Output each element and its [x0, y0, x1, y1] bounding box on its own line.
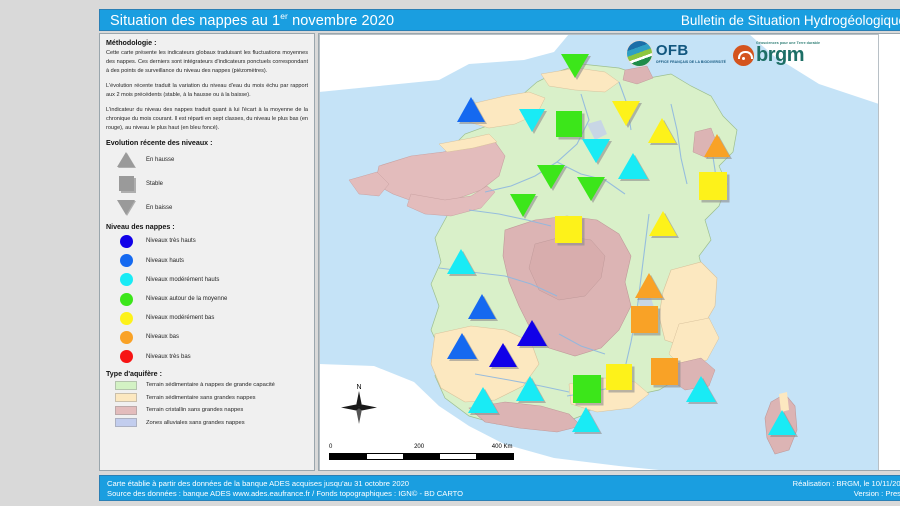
niveau-legend-row: Niveaux hauts — [106, 251, 308, 270]
aquifere-legend-row: Terrain sédimentaire à nappes de grande … — [106, 379, 308, 392]
niveau-color-dot — [120, 235, 133, 248]
map-marker-gard[interactable] — [606, 364, 632, 390]
niveau-legend-row: Niveaux très hauts — [106, 232, 308, 251]
footer-version: Version : Presse — [854, 489, 900, 498]
scale-tick-label: 0 — [329, 444, 332, 450]
triangle-down-icon — [117, 200, 135, 215]
brgm-name: brgm — [756, 45, 820, 65]
niveau-color-dot — [120, 331, 133, 344]
map-marker-limousin[interactable] — [517, 320, 547, 346]
map-marker-centre-nord[interactable] — [537, 165, 565, 189]
footer-row-2: Source des données : banque ADES www.ade… — [107, 489, 900, 499]
triangle-up-icon — [117, 152, 135, 167]
header-subtitle: Bulletin de Situation Hydrogéologique — [681, 13, 900, 28]
compass-north-label: N — [356, 384, 361, 391]
niveau-color-dot — [120, 293, 133, 306]
map-marker-artois-picardie[interactable] — [561, 54, 589, 78]
ofb-logo: OFB OFFICE FRANÇAIS DE LA BIODIVERSITÉ — [626, 40, 726, 67]
scale-bar: 0200400 Km — [329, 444, 514, 460]
map-frame[interactable]: N 0200400 Km — [318, 33, 900, 471]
niveau-legend-row: Niveaux autour de la moyenne — [106, 289, 308, 308]
brgm-wordmark: Géosciences pour une Terre durable brgm — [756, 42, 820, 66]
map-marker-ile-de-france-nord[interactable] — [556, 111, 582, 137]
footer-bar: Carte établie à partir des données de la… — [99, 475, 900, 501]
map-marker-languedoc-est[interactable] — [573, 375, 601, 403]
map-marker-paca-ouest[interactable] — [651, 358, 678, 385]
niveau-legend-row: Niveaux bas — [106, 328, 308, 347]
map-marker-poitou-charentes[interactable] — [447, 249, 475, 274]
evolution-legend-row: En hausse — [106, 148, 308, 172]
ofb-name: OFB — [656, 42, 689, 59]
map-marker-rhone-alpes-nord[interactable] — [635, 273, 663, 298]
brgm-logo: Géosciences pour une Terre durable brgm — [733, 42, 820, 66]
page-title-sup: er — [280, 11, 288, 21]
map-marker-rhone-alpes-sud[interactable] — [631, 306, 658, 333]
brgm-emblem-icon — [733, 45, 754, 66]
niveau-swatch-wrap — [106, 273, 146, 286]
scale-tick-label: 400 Km — [492, 444, 513, 450]
map-marker-basse-normandie[interactable] — [457, 97, 485, 122]
map-marker-aquitaine-centre[interactable] — [447, 333, 477, 359]
aquifere-legend-list: Terrain sédimentaire à nappes de grande … — [106, 379, 308, 429]
aquifere-legend-row: Zones alluviales sans grandes nappes — [106, 417, 308, 430]
niveau-legend-row: Niveaux modérément bas — [106, 309, 308, 328]
footer-realisation: Réalisation : BRGM, le 10/11/2020 — [793, 479, 900, 488]
niveau-color-dot — [120, 350, 133, 363]
aquifere-swatch-wrap — [106, 418, 146, 427]
niveau-swatch-wrap — [106, 331, 146, 344]
map-marker-champagne-nord[interactable] — [612, 101, 640, 126]
methodology-paragraph-1: Cette carte présente les indicateurs glo… — [106, 49, 308, 76]
methodology-section: Méthodologie : Cette carte présente les … — [106, 39, 308, 133]
niveau-legend-row: Niveaux modérément hauts — [106, 270, 308, 289]
niveau-legend-list: Niveaux très hautsNiveaux hautsNiveaux m… — [106, 232, 308, 366]
evolution-label: En hausse — [146, 157, 174, 163]
evolution-legend-list: En hausseStableEn baisse — [106, 148, 308, 220]
evolution-symbol — [106, 200, 146, 215]
square-icon — [119, 176, 134, 191]
niveau-legend-section: Niveau des nappes : Niveaux très hautsNi… — [106, 223, 308, 366]
aquifere-swatch-wrap — [106, 406, 146, 415]
aquifere-color-swatch — [115, 406, 137, 415]
aquifere-heading: Type d'aquifère : — [106, 370, 308, 378]
markers-layer[interactable] — [319, 34, 879, 471]
page-title-main: Situation des nappes au 1 — [110, 13, 280, 29]
map-marker-pays-de-loire[interactable] — [510, 194, 536, 217]
aquifere-label: Terrain sédimentaire à nappes de grande … — [146, 382, 275, 388]
map-marker-languedoc-ouest[interactable] — [572, 407, 600, 432]
aquifere-swatch-wrap — [106, 393, 146, 402]
ofb-wordmark: OFB OFFICE FRANÇAIS DE LA BIODIVERSITÉ — [656, 43, 726, 64]
aquifere-color-swatch — [115, 381, 137, 390]
evolution-symbol — [106, 176, 146, 191]
aquifere-label: Terrain cristallin sans grandes nappes — [146, 407, 243, 413]
header-bar: Situation des nappes au 1er novembre 202… — [99, 9, 900, 31]
scale-bar-segments — [329, 453, 514, 460]
page-root: Situation des nappes au 1er novembre 202… — [0, 0, 900, 506]
niveau-label: Niveaux hauts — [146, 258, 184, 264]
page-title-rest: novembre 2020 — [288, 13, 394, 29]
aquifere-color-swatch — [115, 393, 137, 402]
logos-group: OFB OFFICE FRANÇAIS DE LA BIODIVERSITÉ G… — [626, 40, 820, 67]
scale-bar-labels: 0200400 Km — [329, 444, 514, 453]
map-marker-corse[interactable] — [768, 410, 796, 435]
niveau-label: Niveaux autour de la moyenne — [146, 296, 227, 302]
methodology-heading: Méthodologie : — [106, 39, 308, 47]
niveau-label: Niveaux modérément hauts — [146, 277, 219, 283]
map-marker-ile-de-france-sud[interactable] — [582, 139, 610, 163]
map-marker-franche-comte[interactable] — [649, 211, 677, 236]
niveau-swatch-wrap — [106, 235, 146, 248]
aquifere-legend-row: Terrain sédimentaire sans grandes nappes — [106, 392, 308, 405]
aquifere-legend-row: Terrain cristallin sans grandes nappes — [106, 404, 308, 417]
evolution-heading: Evolution récente des niveaux : — [106, 139, 308, 147]
niveau-heading: Niveau des nappes : — [106, 223, 308, 231]
evolution-symbol — [106, 152, 146, 167]
map-marker-aquitaine-sud[interactable] — [468, 387, 498, 413]
aquifere-swatch-wrap — [106, 381, 146, 390]
methodology-paragraph-2: L'évolution récente traduit la variation… — [106, 82, 308, 100]
map-marker-champagne-sud[interactable] — [618, 153, 648, 179]
map-marker-bourgogne-nord[interactable] — [577, 177, 605, 201]
footer-source: Source des données : banque ADES www.ade… — [107, 489, 463, 498]
niveau-label: Niveaux modérément bas — [146, 315, 214, 321]
map-marker-centre-sud[interactable] — [555, 216, 582, 243]
niveau-label: Niveaux très bas — [146, 354, 191, 360]
map-marker-alsace-sud[interactable] — [699, 172, 727, 200]
compass-rose: N — [341, 380, 377, 424]
legend-panel: Méthodologie : Cette carte présente les … — [99, 33, 315, 471]
page-title: Situation des nappes au 1er novembre 202… — [110, 11, 394, 29]
map-marker-paca-est[interactable] — [686, 376, 716, 402]
aquifere-legend-section: Type d'aquifère : Terrain sédimentaire à… — [106, 370, 308, 429]
evolution-legend-section: Evolution récente des niveaux : En hauss… — [106, 139, 308, 220]
map-marker-midi-pyrenees-nord[interactable] — [489, 343, 517, 367]
map-marker-lorraine-nord[interactable] — [648, 118, 676, 143]
niveau-label: Niveaux très hauts — [146, 238, 196, 244]
methodology-paragraph-3: L'indicateur du niveau des nappes tradui… — [106, 106, 308, 133]
evolution-label: En baisse — [146, 205, 172, 211]
footer-row-1: Carte établie à partir des données de la… — [107, 479, 900, 489]
niveau-swatch-wrap — [106, 254, 146, 267]
footer-data-source-date: Carte établie à partir des données de la… — [107, 479, 409, 488]
map-marker-midi-pyrenees-centre[interactable] — [516, 376, 544, 401]
aquifere-label: Zones alluviales sans grandes nappes — [146, 420, 245, 426]
niveau-swatch-wrap — [106, 293, 146, 306]
scale-tick-label: 200 — [414, 444, 424, 450]
ofb-subtitle: OFFICE FRANÇAIS DE LA BIODIVERSITÉ — [656, 61, 726, 64]
map-marker-alsace-nord[interactable] — [704, 134, 730, 157]
map-marker-aquitaine-nord[interactable] — [468, 294, 496, 319]
map-canvas[interactable]: N 0200400 Km — [319, 34, 879, 471]
evolution-label: Stable — [146, 181, 163, 187]
map-marker-haute-normandie[interactable] — [519, 109, 545, 132]
evolution-legend-row: En baisse — [106, 196, 308, 220]
niveau-color-dot — [120, 273, 133, 286]
evolution-legend-row: Stable — [106, 172, 308, 196]
niveau-swatch-wrap — [106, 312, 146, 325]
niveau-color-dot — [120, 312, 133, 325]
aquifere-label: Terrain sédimentaire sans grandes nappes — [146, 395, 256, 401]
niveau-legend-row: Niveaux très bas — [106, 347, 308, 366]
niveau-swatch-wrap — [106, 350, 146, 363]
ofb-emblem-icon — [626, 40, 653, 67]
niveau-color-dot — [120, 254, 133, 267]
aquifere-color-swatch — [115, 418, 137, 427]
niveau-label: Niveaux bas — [146, 334, 179, 340]
